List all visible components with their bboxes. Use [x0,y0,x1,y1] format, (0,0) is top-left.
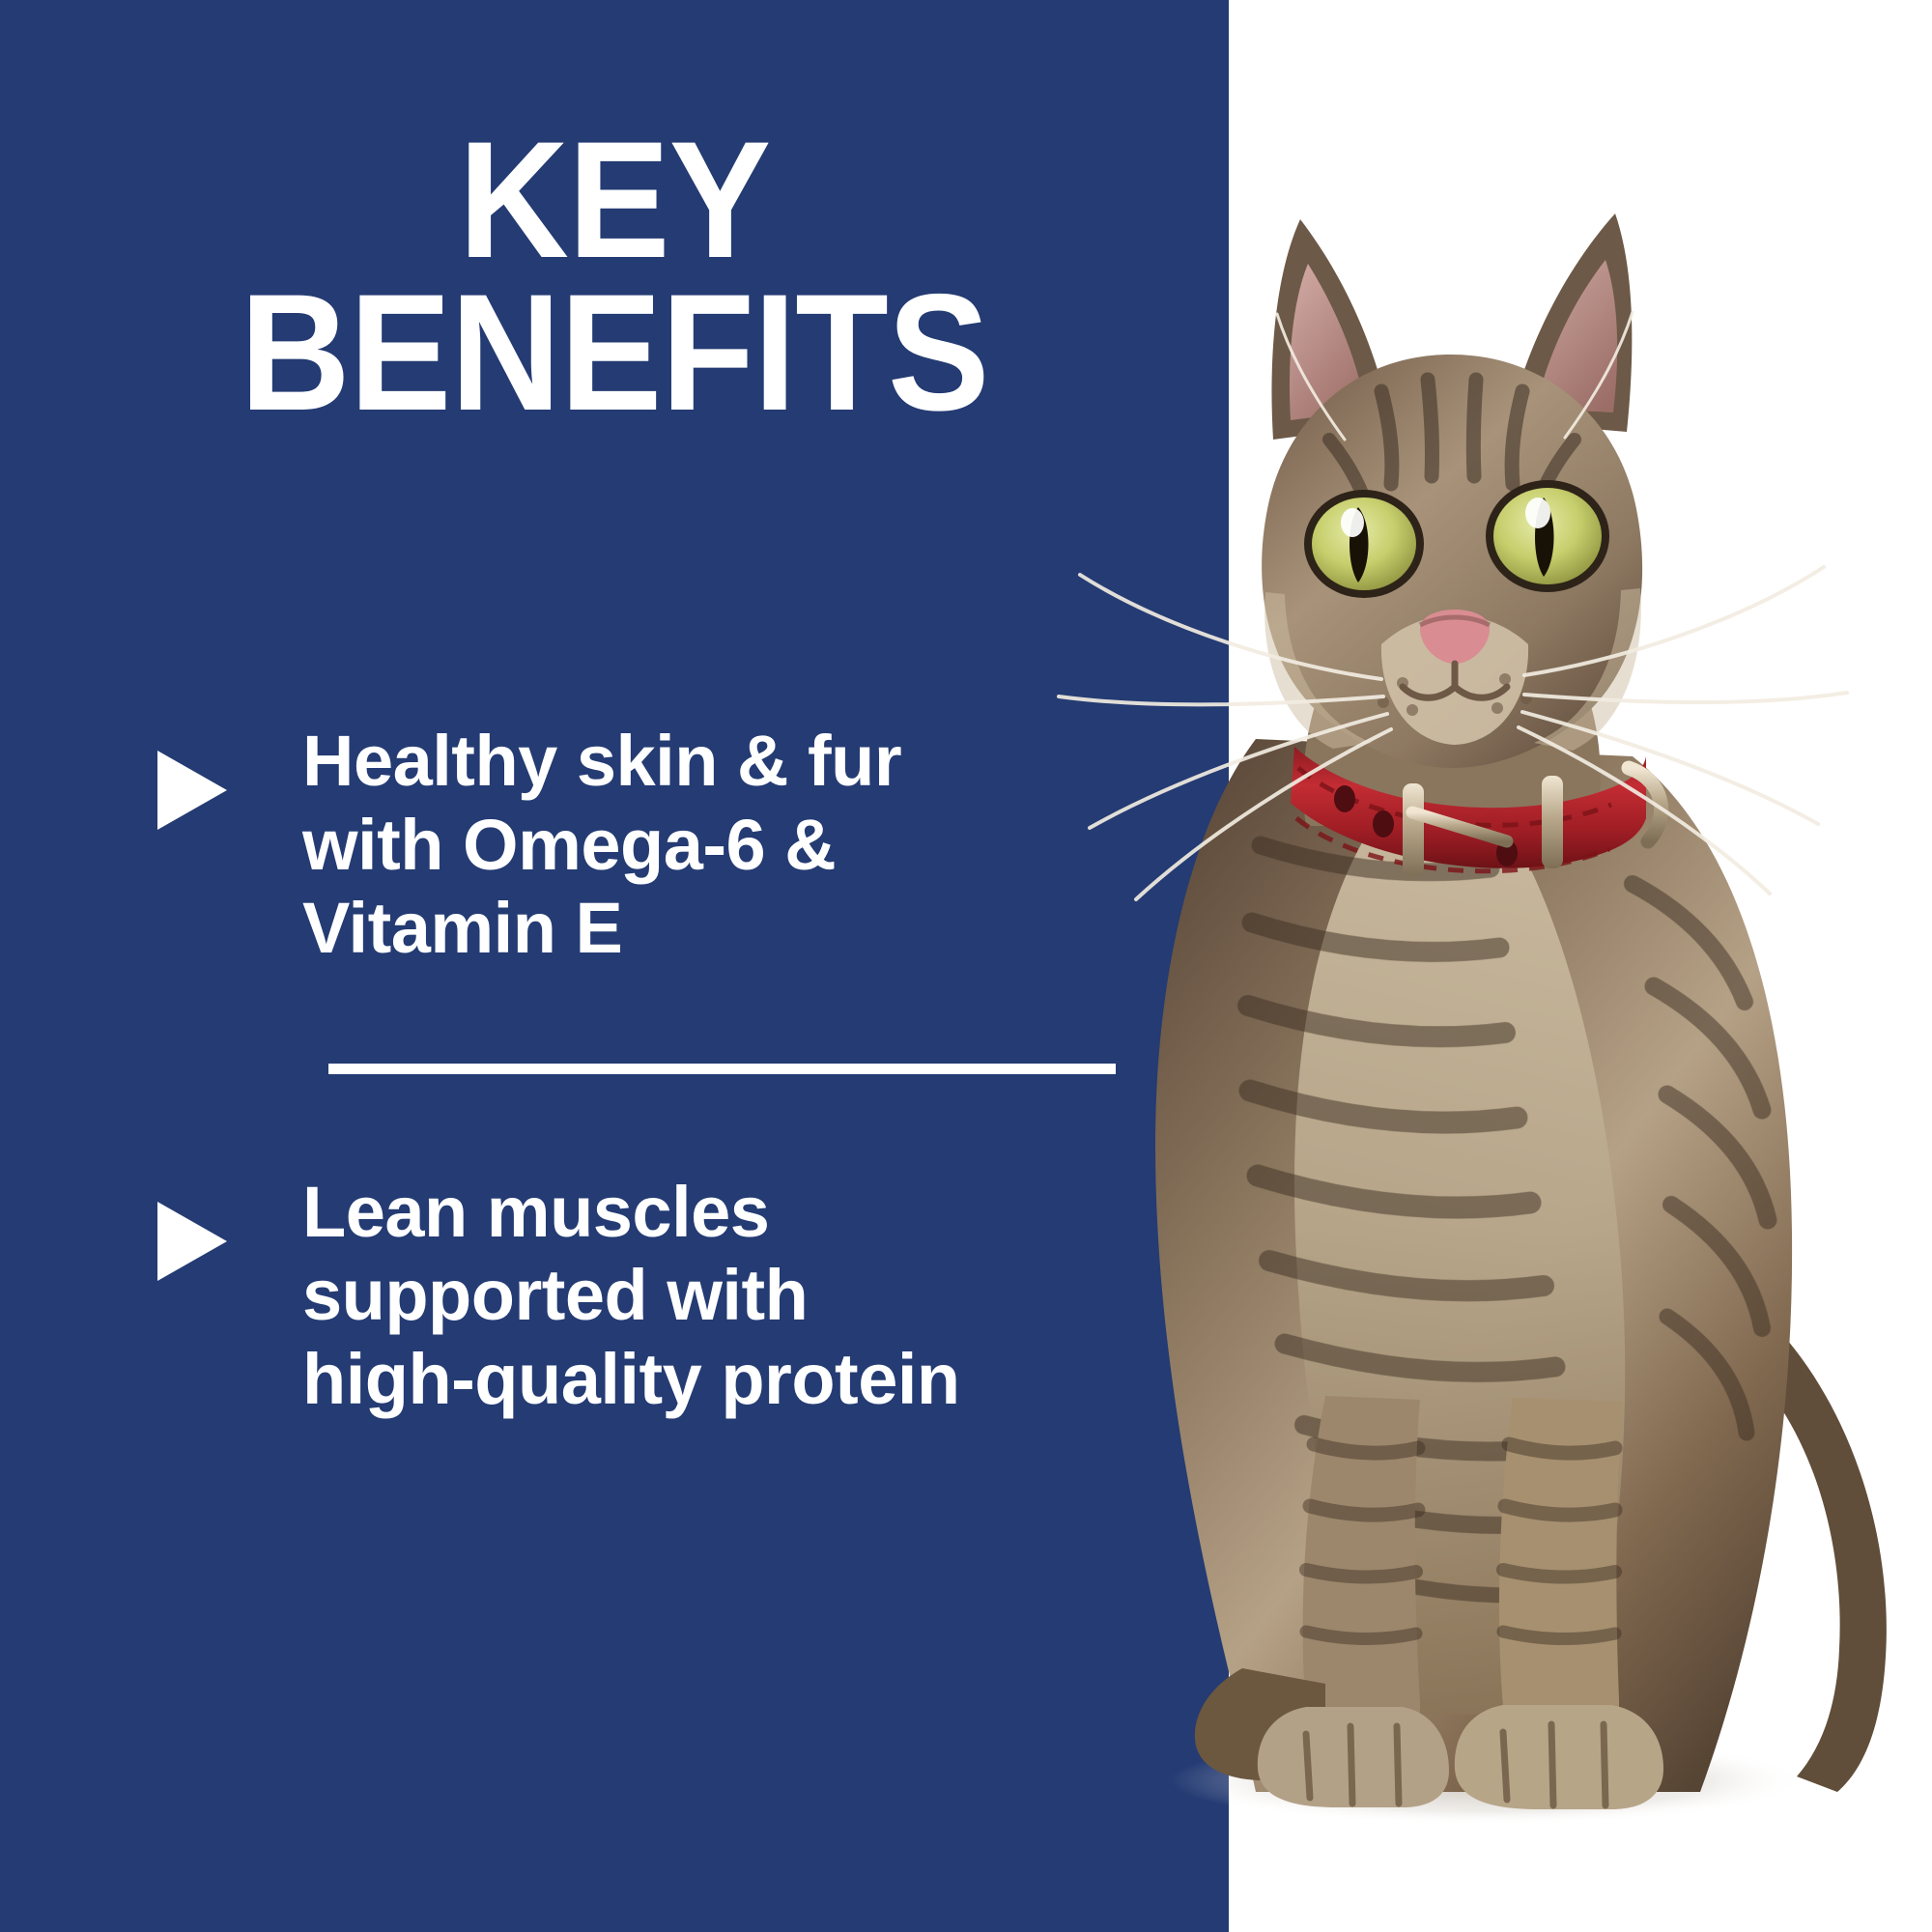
triangle-right-icon [157,751,227,830]
cat-eye-left [1304,490,1424,598]
cat-photo [966,150,1932,1879]
triangle-right-icon [157,1202,227,1281]
benefit-item-1-label: Healthy skin & fur with Omega-6 & Vitami… [302,720,901,971]
key-benefits-panel: KEY BENEFITS Healthy skin & fur with Ome… [0,0,1932,1932]
cat-eye-right [1486,480,1609,592]
cat-paw-right [1455,1705,1663,1809]
photo-area [1229,0,1932,1932]
benefit-item-2-label: Lean muscles supported with high-quality… [302,1171,960,1422]
